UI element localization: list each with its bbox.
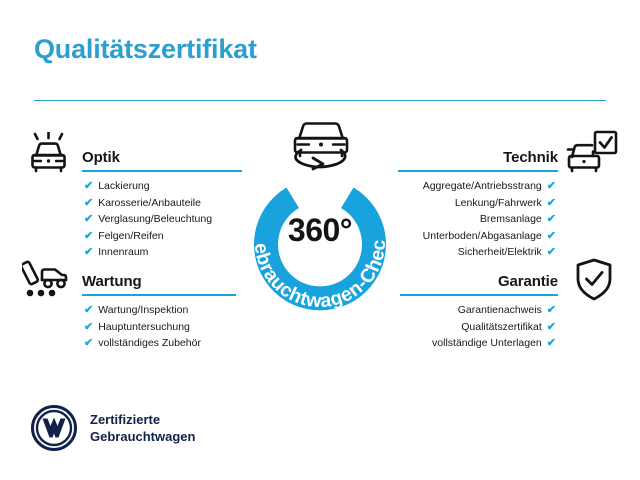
check-icon: ✔ [547, 178, 556, 195]
check-icon: ✔ [84, 178, 93, 195]
check-icon: ✔ [547, 228, 556, 245]
list-item-label: Unterboden/Abgasanlage [423, 230, 542, 242]
list-item-label: Karosserie/Anbauteile [98, 197, 201, 209]
car-rotation-icon [283, 114, 359, 174]
list-item-label: Lackierung [98, 180, 149, 192]
list-item-label: Verglasung/Beleuchtung [98, 213, 212, 225]
list-item: Bremsanlage✔ [396, 211, 556, 228]
section-wartung-list: ✔Wartung/Inspektion ✔Hauptuntersuchung ✔… [84, 302, 240, 352]
check-icon: ✔ [84, 319, 93, 336]
list-item: Lenkung/Fahrwerk✔ [396, 195, 556, 212]
vw-logo [30, 404, 78, 452]
title-divider [34, 100, 606, 101]
list-item: ✔Verglasung/Beleuchtung [84, 211, 244, 228]
list-item: ✔Lackierung [84, 178, 244, 195]
list-item-label: Qualitätszertifikat [461, 321, 542, 333]
car-checkbox-icon [566, 130, 618, 179]
check-icon: ✔ [84, 195, 93, 212]
section-garantie: Garantie Garantienachweis✔ Qualitätszert… [400, 264, 558, 294]
section-wartung-header: Wartung [82, 264, 238, 294]
section-optik: Optik ✔Lackierung ✔Karosserie/Anbauteile… [82, 140, 242, 170]
list-item-label: Felgen/Reifen [98, 230, 163, 242]
list-item: ✔Hauptuntersuchung [84, 319, 240, 336]
check-icon: ✔ [547, 211, 556, 228]
list-item: Qualitätszertifikat✔ [398, 319, 556, 336]
brand-footer: Zertifizierte Gebrauchtwagen [30, 404, 195, 452]
badge-360-gebrauchtwagen-check: Gebrauchtwagen-Check 360° [228, 150, 412, 334]
list-item: Sicherheit/Elektrik✔ [396, 244, 556, 261]
check-icon: ✔ [84, 211, 93, 228]
list-item-label: Sicherheit/Elektrik [458, 246, 542, 258]
list-item: Aggregate/Antriebsstrang✔ [396, 178, 556, 195]
list-item-label: Aggregate/Antriebsstrang [423, 180, 542, 192]
section-wartung-title: Wartung [82, 273, 142, 290]
certificate-page: Qualitätszertifikat Optik ✔Lackierung [0, 0, 640, 480]
check-icon: ✔ [84, 244, 93, 261]
badge-center-label: 360° [228, 212, 412, 249]
list-item: ✔Wartung/Inspektion [84, 302, 240, 319]
list-item-label: Lenkung/Fahrwerk [455, 197, 542, 209]
check-icon: ✔ [84, 302, 93, 319]
list-item-label: Innenraum [98, 246, 148, 258]
section-garantie-list: Garantienachweis✔ Qualitätszertifikat✔ v… [398, 302, 556, 352]
check-icon: ✔ [84, 335, 93, 352]
section-technik: Technik Aggregate/Antriebsstrang✔ Lenkun… [398, 140, 558, 170]
check-icon: ✔ [547, 335, 556, 352]
list-item-label: Bremsanlage [480, 213, 542, 225]
list-item-label: Garantienachweis [458, 304, 542, 316]
check-icon: ✔ [547, 195, 556, 212]
check-icon: ✔ [547, 244, 556, 261]
section-technik-header: Technik [398, 140, 558, 170]
section-garantie-title: Garantie [498, 273, 558, 290]
list-item: ✔Innenraum [84, 244, 244, 261]
list-item-label: vollständiges Zubehör [98, 337, 201, 349]
list-item: ✔vollständiges Zubehör [84, 335, 240, 352]
list-item-label: Hauptuntersuchung [98, 321, 190, 333]
section-optik-title: Optik [82, 149, 120, 166]
shield-check-icon [574, 258, 614, 307]
section-technik-list: Aggregate/Antriebsstrang✔ Lenkung/Fahrwe… [396, 178, 556, 261]
list-item: Garantienachweis✔ [398, 302, 556, 319]
section-optik-list: ✔Lackierung ✔Karosserie/Anbauteile ✔Verg… [84, 178, 244, 261]
list-item: vollständige Unterlagen✔ [398, 335, 556, 352]
list-item: ✔Felgen/Reifen [84, 228, 244, 245]
section-optik-header: Optik [82, 140, 242, 170]
car-lift-icon [22, 258, 72, 305]
check-icon: ✔ [84, 228, 93, 245]
list-item: Unterboden/Abgasanlage✔ [396, 228, 556, 245]
section-wartung: Wartung ✔Wartung/Inspektion ✔Hauptunters… [82, 264, 238, 294]
check-icon: ✔ [547, 302, 556, 319]
check-icon: ✔ [547, 319, 556, 336]
list-item-label: Wartung/Inspektion [98, 304, 188, 316]
section-technik-title: Technik [503, 149, 558, 166]
section-garantie-header: Garantie [400, 264, 558, 294]
list-item: ✔Karosserie/Anbauteile [84, 195, 244, 212]
list-item-label: vollständige Unterlagen [432, 337, 542, 349]
page-title: Qualitätszertifikat [34, 34, 257, 65]
brand-text: Zertifizierte Gebrauchtwagen [90, 411, 195, 445]
car-polish-icon [26, 132, 72, 179]
